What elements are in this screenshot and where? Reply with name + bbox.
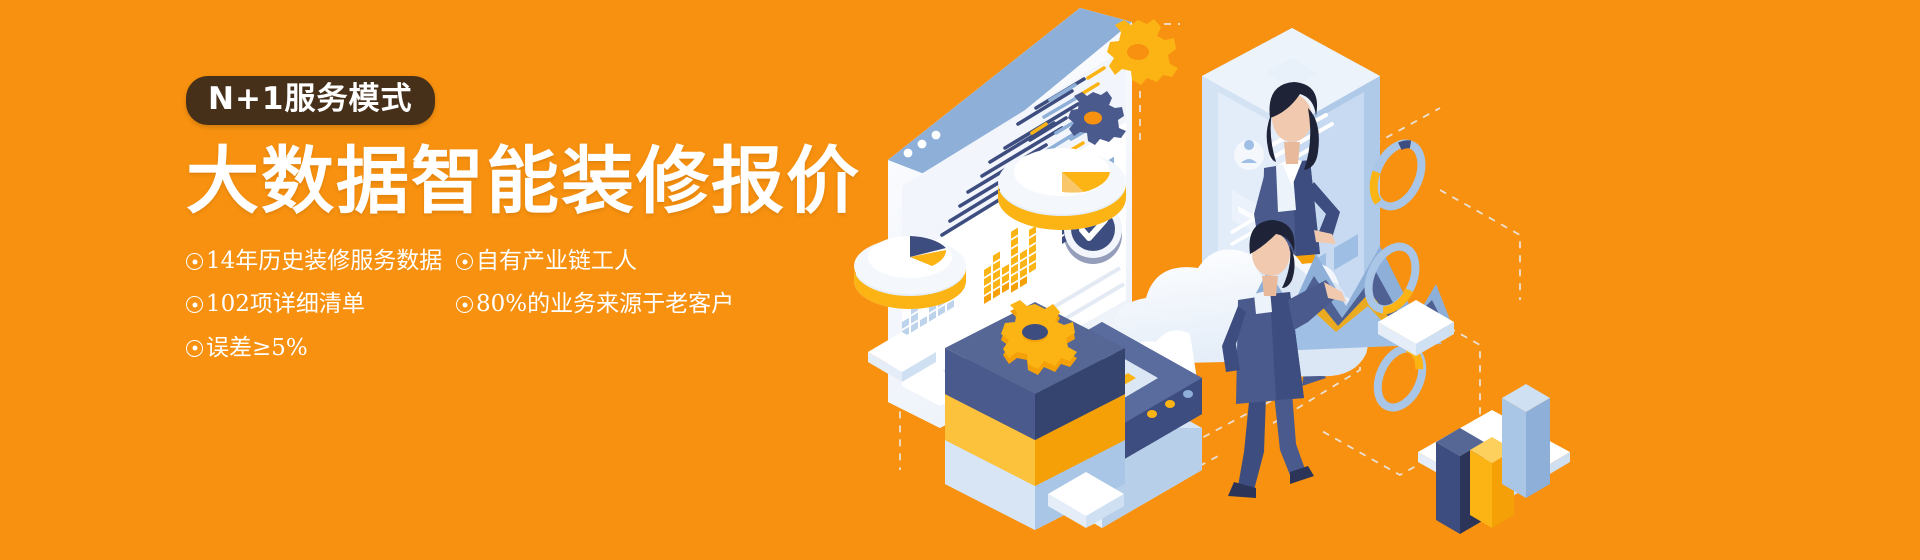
hero-text-block: N+1服务模式 大数据智能装修报价 14年历史装修服务数据 102项详细清单 误… bbox=[186, 76, 906, 361]
list-item: 14年历史装修服务数据 bbox=[186, 249, 430, 274]
bullet-column-right: 自有产业链工人 80%的业务来源于老客户 bbox=[456, 249, 734, 361]
target-dot-icon bbox=[456, 253, 473, 270]
target-dot-icon bbox=[186, 253, 203, 270]
bar-lightblue bbox=[1502, 384, 1550, 498]
bullet-column-left: 14年历史装修服务数据 102项详细清单 误差≥5% bbox=[186, 249, 430, 361]
list-item: 误差≥5% bbox=[186, 336, 430, 361]
target-dot-icon bbox=[186, 296, 203, 313]
list-item-label: 误差≥5% bbox=[206, 336, 308, 361]
target-dot-icon bbox=[456, 296, 473, 313]
list-item-label: 自有产业链工人 bbox=[476, 249, 637, 274]
pie-chart-cylinder-small bbox=[854, 236, 966, 309]
list-item-label: 14年历史装修服务数据 bbox=[206, 249, 442, 274]
isometric-big-data-illustration bbox=[840, 0, 1620, 560]
feature-bullet-group: 14年历史装修服务数据 102项详细清单 误差≥5% 自有产业链工人 bbox=[186, 249, 906, 361]
service-mode-badge: N+1服务模式 bbox=[186, 76, 435, 125]
isometric-bar-group bbox=[1418, 384, 1570, 534]
list-item-label: 102项详细清单 bbox=[206, 292, 365, 317]
promo-banner: N+1服务模式 大数据智能装修报价 14年历史装修服务数据 102项详细清单 误… bbox=[0, 0, 1920, 560]
target-dot-icon bbox=[186, 340, 203, 357]
page-title: 大数据智能装修报价 bbox=[186, 145, 906, 219]
pie-chart-cylinder-large bbox=[998, 148, 1126, 230]
list-item: 自有产业链工人 bbox=[456, 249, 734, 274]
list-item: 102项详细清单 bbox=[186, 292, 430, 317]
list-item: 80%的业务来源于老客户 bbox=[456, 292, 734, 317]
list-item-label: 80%的业务来源于老客户 bbox=[476, 292, 734, 317]
